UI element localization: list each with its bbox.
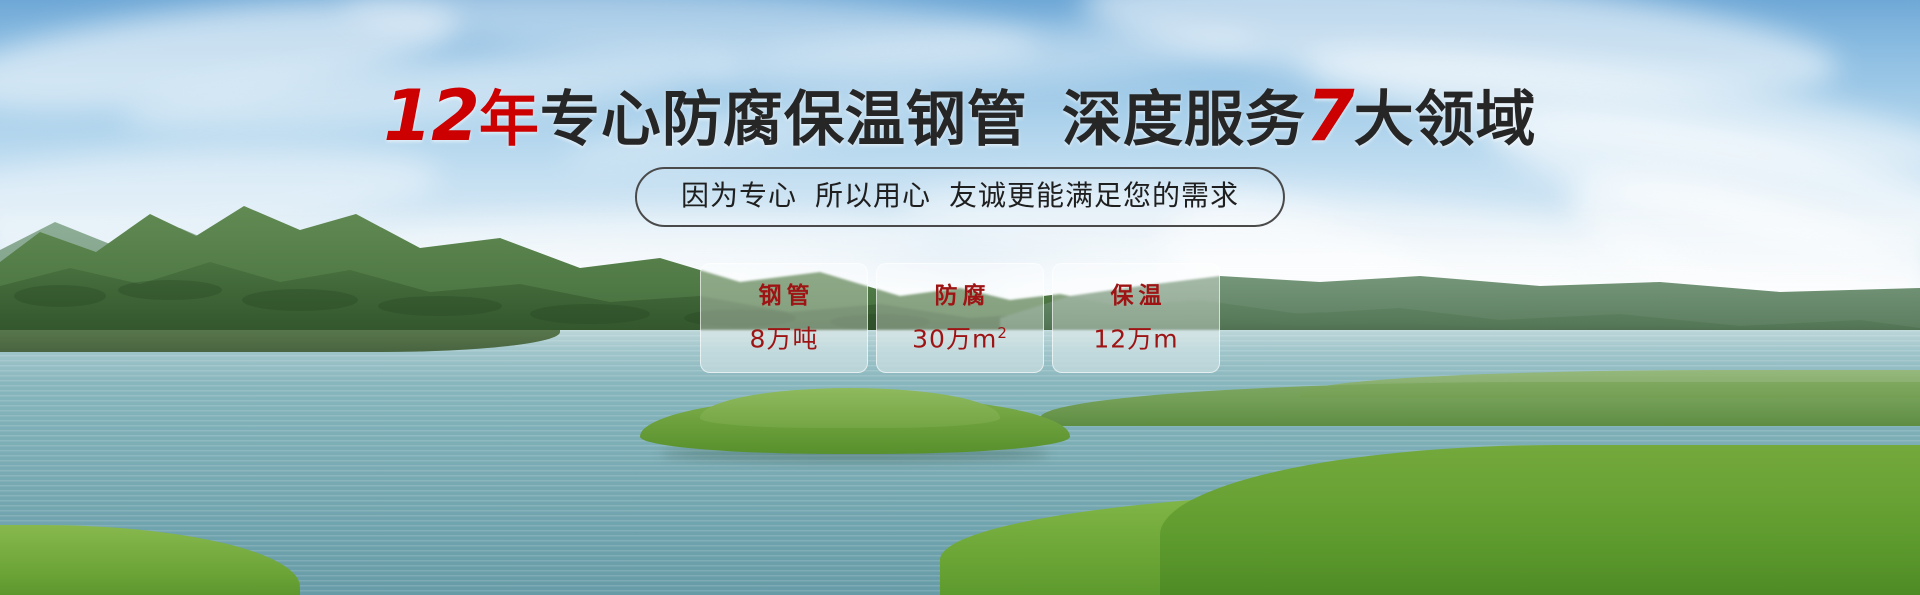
stat-label: 防腐: [930, 283, 991, 309]
stat-value: 30万m2: [912, 319, 1008, 353]
headline-years-unit: 年: [479, 85, 540, 155]
subtitle-part-3: 友诚更能满足您的需求: [949, 179, 1239, 212]
stat-value: 12万m: [1093, 319, 1178, 353]
stat-value-sup: 2: [997, 324, 1008, 342]
subtitle-part-1: 因为专心: [681, 179, 797, 212]
stat-value-text: 12万m: [1093, 324, 1178, 353]
stat-value: 8万吨: [750, 319, 819, 353]
stat-label: 钢管: [754, 283, 815, 309]
headline-main-after: 大领域: [1354, 85, 1537, 155]
hero-banner: 12年专心防腐保温钢管深度服务7大领域 因为专心所以用心友诚更能满足您的需求 钢…: [0, 0, 1920, 595]
stat-value-text: 8万吨: [750, 324, 819, 353]
subtitle-pill: 因为专心所以用心友诚更能满足您的需求: [635, 167, 1285, 227]
stat-value-text: 30万m: [912, 324, 997, 353]
headline-count-number: 7: [1306, 75, 1354, 157]
headline-main-before: 专心防腐保温钢管: [540, 85, 1028, 155]
headline-years-number: 12: [383, 75, 478, 157]
stat-card-insulation: 保温 12万m: [1052, 263, 1220, 373]
stats-row: 钢管 8万吨 防腐 30万m2 保温 12万m: [700, 263, 1220, 373]
stat-label: 保温: [1106, 283, 1167, 309]
headline-service-text: 深度服务: [1062, 85, 1306, 155]
headline: 12年专心防腐保温钢管深度服务7大领域: [0, 84, 1920, 152]
stat-card-steel-pipe: 钢管 8万吨: [700, 263, 868, 373]
stat-card-anticorrosion: 防腐 30万m2: [876, 263, 1044, 373]
subtitle-part-2: 所以用心: [815, 179, 931, 212]
banner-content: 12年专心防腐保温钢管深度服务7大领域 因为专心所以用心友诚更能满足您的需求 钢…: [0, 0, 1920, 595]
